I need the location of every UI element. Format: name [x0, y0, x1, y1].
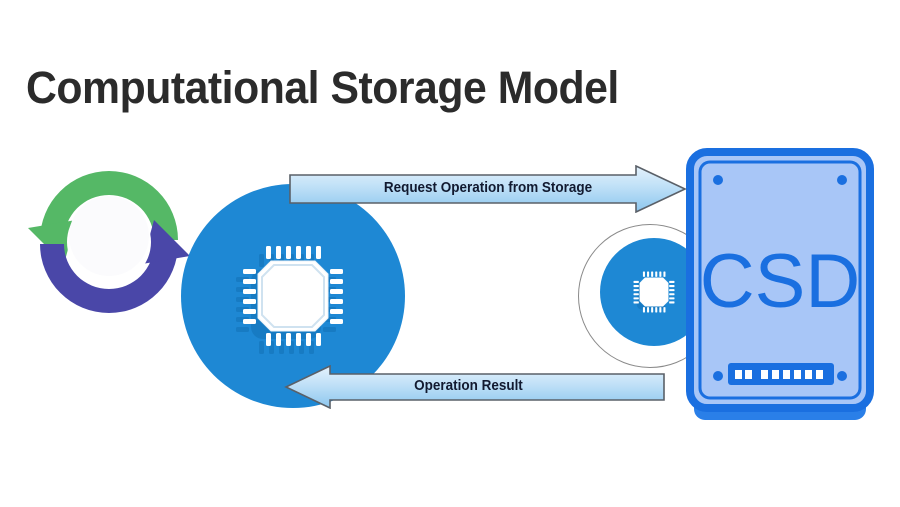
arrow-request-operation: Request Operation from Storage [288, 165, 688, 213]
cpu-chip-icon [629, 267, 679, 317]
diagram-canvas: Computational Storage Model [0, 0, 900, 507]
storage-drive-icon: CSD [686, 148, 874, 428]
refresh-cycle-icon [14, 136, 204, 326]
arrow-operation-result: Operation Result [284, 365, 666, 409]
cpu-chip-icon [232, 235, 354, 357]
page-title: Computational Storage Model [26, 62, 619, 114]
